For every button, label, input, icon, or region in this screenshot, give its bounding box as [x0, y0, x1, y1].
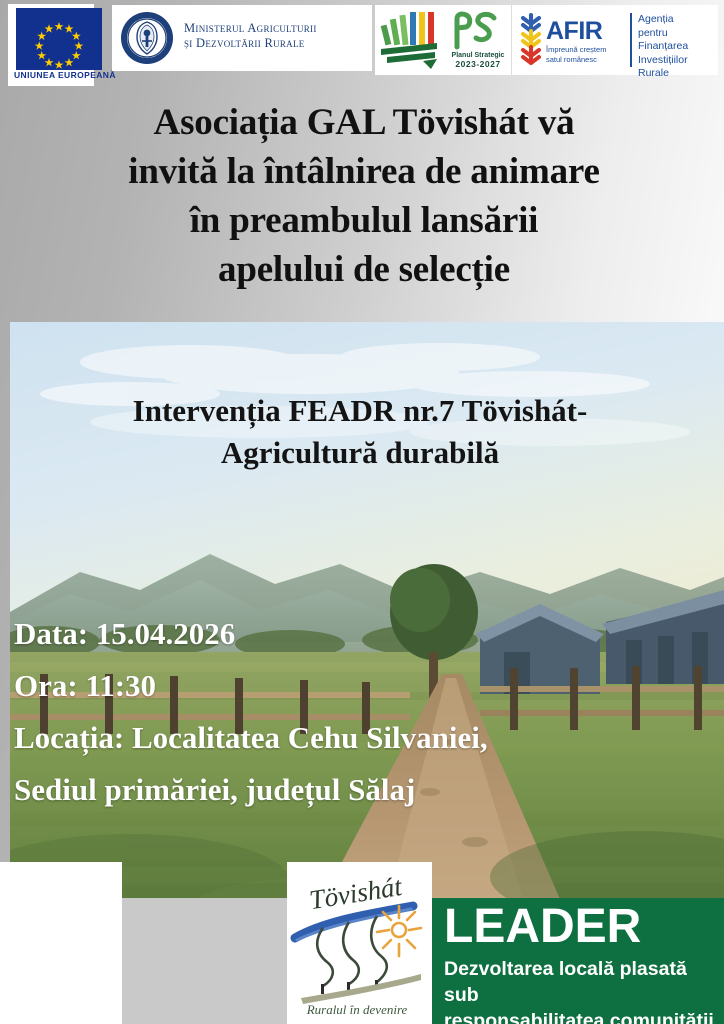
eu-logo-box: UNIUNEA EUROPEANĂ [8, 4, 94, 86]
tovishat-logo-icon: Tövishát Ruralul în devenire [287, 862, 432, 1024]
title-line-1: Asociația GAL Tövishát vă [14, 98, 714, 147]
ps-monogram-icon [449, 9, 501, 51]
eu-flag-icon [16, 8, 102, 70]
leader-title: LEADER [444, 900, 641, 954]
title-line-2: invită la întâlnirea de animare [14, 147, 714, 196]
event-location-line-2: Sediul primăriei, județul Sălaj [14, 764, 714, 816]
event-date: Data: 15.04.2026 [14, 608, 714, 660]
afir-divider [630, 13, 632, 67]
poster-root: UNIUNEA EUROPEANĂ Ministerul Agriculturi… [0, 0, 724, 1024]
afir-wheat-icon [518, 13, 544, 67]
afir-agency-line-1: Agenția [638, 13, 718, 27]
title-line-4: apelului de selecție [14, 245, 714, 294]
afir-tagline: Împreună creștem satul românesc [546, 45, 622, 64]
intervention-heading: Intervenția FEADR nr.7 Tövishát- Agricul… [10, 390, 710, 474]
planul-strategic-box: Planul Strategic 2023-2027 [375, 5, 511, 75]
footer-gray-filler [122, 898, 287, 1024]
afir-agency-line-2: pentru Finanțarea [638, 27, 718, 54]
planul-strategic-caption: Planul Strategic 2023-2027 [445, 51, 511, 69]
leader-subtitle-line-2: responsabilitatea comunității [444, 1008, 720, 1024]
ps-caption-years: 2023-2027 [445, 60, 511, 69]
ministry-line-2: și Dezvoltării Rurale [184, 36, 317, 51]
afir-agency-line-3: Investițiilor [638, 54, 718, 68]
eu-stars-icon [16, 8, 102, 70]
ministry-logo-box: Ministerul Agriculturii și Dezvoltării R… [112, 5, 372, 71]
leader-badge: LEADER Dezvoltarea locală plasată sub re… [432, 898, 724, 1024]
ministry-line-1: Ministerul Agriculturii [184, 21, 317, 36]
leader-subtitle-line-1: Dezvoltarea locală plasată sub [444, 956, 720, 1008]
eu-label: UNIUNEA EUROPEANĂ [14, 70, 104, 80]
header-logo-strip: UNIUNEA EUROPEANĂ Ministerul Agriculturi… [0, 0, 724, 82]
leader-subtitle: Dezvoltarea locală plasată sub responsab… [444, 956, 720, 1024]
ministry-name: Ministerul Agriculturii și Dezvoltării R… [184, 21, 317, 51]
event-time: Ora: 11:30 [14, 660, 714, 712]
afir-logo-box: AFIR Împreună creștem satul românesc Age… [512, 5, 718, 75]
afir-agency-name: Agenția pentru Finanțarea Investițiilor … [638, 13, 718, 81]
intervention-heading-line-1: Intervenția FEADR nr.7 Tövishát- [10, 390, 710, 432]
afir-agency-line-4: Rurale [638, 67, 718, 81]
planul-strategic-leaf-icon [379, 9, 445, 71]
event-location-line-1: Locația: Localitatea Cehu Silvaniei, [14, 712, 714, 764]
title-line-3: în preambulul lansării [14, 196, 714, 245]
qr-panel: SCAN ME [0, 862, 122, 1024]
event-details: Data: 15.04.2026 Ora: 11:30 Locația: Loc… [14, 608, 714, 816]
intervention-heading-line-2: Agricultură durabilă [10, 432, 710, 474]
poster-title: Asociația GAL Tövishát vă invită la întâ… [14, 98, 714, 294]
afir-wordmark: AFIR [546, 17, 602, 46]
svg-text:Ruralul în devenire: Ruralul în devenire [306, 1002, 408, 1017]
tovishat-logo-box: Tövishát Ruralul în devenire [287, 862, 432, 1024]
romania-government-seal-icon [120, 11, 174, 65]
